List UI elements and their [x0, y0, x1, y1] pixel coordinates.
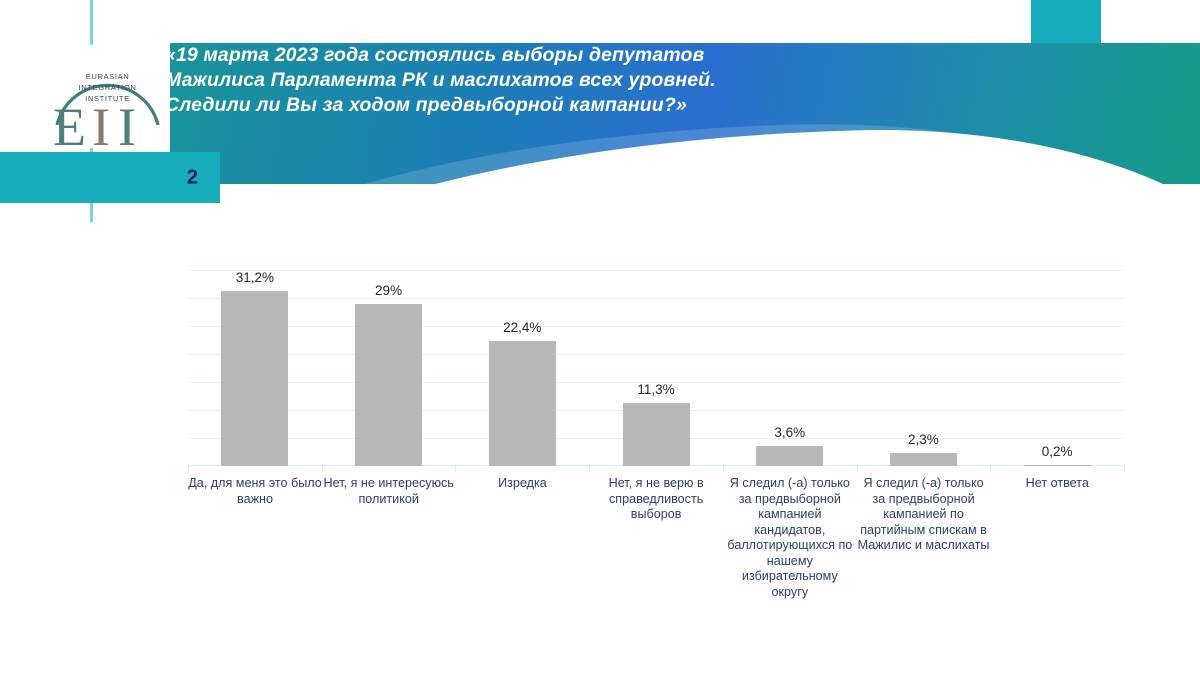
eii-logo-icon: EURASIAN INTEGRATION INSTITUTE E I I: [45, 45, 170, 148]
x-axis-tick: [723, 466, 724, 472]
bar-value-label: 3,6%: [725, 425, 855, 440]
chart-gridline: [188, 298, 1124, 299]
x-axis-tick: [589, 466, 590, 472]
page-title: Распределение ответов на вопрос «19 март…: [165, 18, 955, 118]
category-label: Я следил (-а) только за предвыборной кам…: [723, 476, 857, 600]
chart-gridline: [188, 354, 1124, 355]
title-line-3: Мажилиса Парламента РК и маслихатов всех…: [165, 68, 955, 93]
title-line-4: Следили ли Вы за ходом предвыборной камп…: [165, 93, 955, 118]
title-line-1: Распределение ответов на вопрос: [165, 18, 955, 43]
x-axis-tick: [990, 466, 991, 472]
bar-value-label: 29%: [324, 283, 454, 298]
bar-value-label: 2,3%: [858, 432, 988, 447]
chart-bar[interactable]: [1024, 465, 1091, 466]
x-axis-tick: [1124, 466, 1125, 472]
bar-value-label: 11,3%: [591, 382, 721, 397]
logo: EURASIAN INTEGRATION INSTITUTE E I I: [45, 45, 170, 148]
slide: Распределение ответов на вопрос «19 март…: [0, 0, 1200, 675]
category-label: Я следил (-а) только за предвыборной кам…: [857, 476, 991, 554]
x-axis-tick: [857, 466, 858, 472]
chart-bar[interactable]: [756, 446, 823, 466]
svg-text:INTEGRATION: INTEGRATION: [79, 83, 137, 92]
chart-bar[interactable]: [890, 453, 957, 466]
category-label: Нет, я не верю в справедливость выборов: [589, 476, 723, 523]
category-label: Нет ответа: [990, 476, 1124, 492]
chart-bar[interactable]: [221, 291, 288, 466]
chart-gridline: [188, 270, 1124, 271]
bar-value-label: 22,4%: [457, 320, 587, 335]
title-line-2: «19 марта 2023 года состоялись выборы де…: [165, 43, 955, 68]
svg-text:EURASIAN: EURASIAN: [86, 72, 130, 81]
chart-bar[interactable]: [489, 341, 556, 466]
chart-bar[interactable]: [623, 403, 690, 466]
bar-value-label: 31,2%: [190, 270, 320, 285]
category-label: Изредка: [455, 476, 589, 492]
x-axis-tick: [188, 466, 189, 472]
svg-text:I: I: [118, 97, 136, 148]
category-label: Да, для меня это было важно: [188, 476, 322, 507]
chart-gridline: [188, 326, 1124, 327]
bar-value-label: 0,2%: [992, 444, 1122, 459]
x-axis-tick: [455, 466, 456, 472]
svg-text:E: E: [53, 97, 86, 148]
x-axis-tick: [322, 466, 323, 472]
chart-bar[interactable]: [355, 304, 422, 466]
svg-text:I: I: [92, 97, 110, 148]
category-label: Нет, я не интересуюсь политикой: [322, 476, 456, 507]
